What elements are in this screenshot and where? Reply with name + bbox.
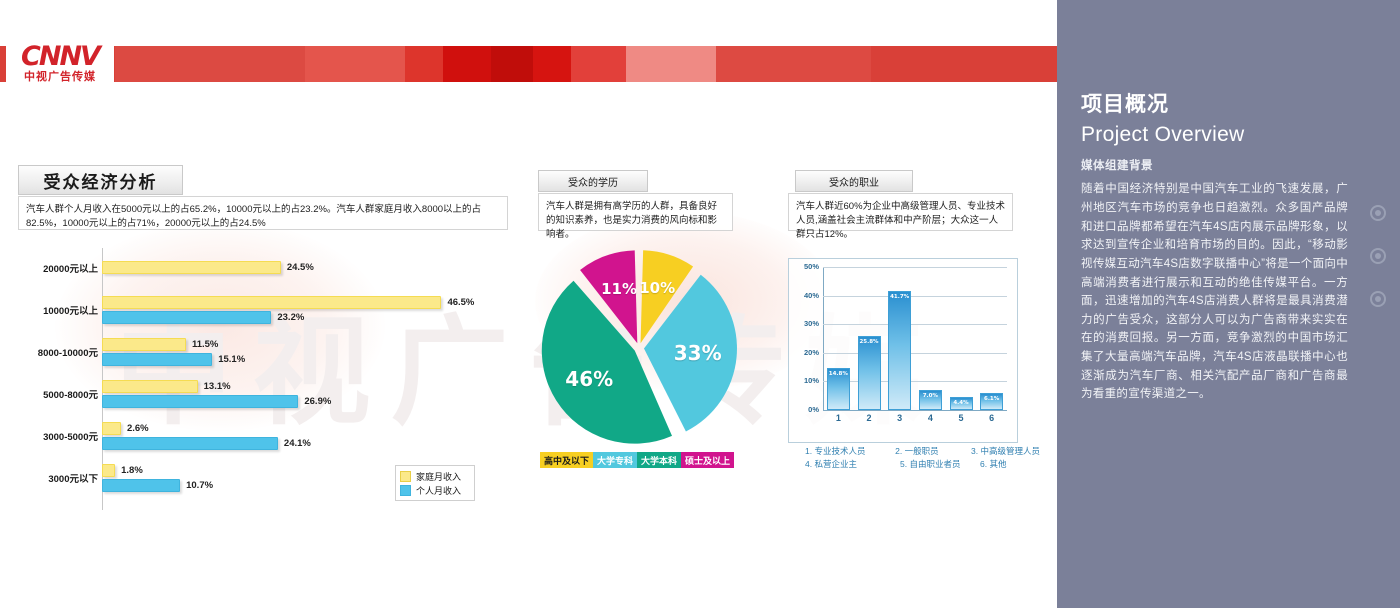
bar-personal-income (102, 479, 180, 492)
category-legend-item: 3. 中高级管理人员 (971, 445, 1040, 458)
legend-item: 个人月收入 (400, 483, 470, 497)
pie-slice-label: 33% (672, 341, 724, 365)
section-title-education: 受众的学历 (538, 170, 648, 192)
pie-legend-item: 高中及以下 (540, 452, 593, 468)
x-axis-tick: 3 (888, 413, 911, 423)
bar-household-income (102, 380, 198, 393)
gridline (823, 267, 1007, 268)
bar-value-label: 2.6% (127, 422, 149, 435)
column-value-label: 6.1% (981, 396, 1002, 402)
legend-swatch (400, 471, 411, 482)
pie-legend-item: 大学本科 (637, 452, 681, 468)
category-legend-item: 4. 私营企业主 (805, 458, 900, 471)
gridline (823, 324, 1007, 325)
column-value-label: 14.8% (828, 371, 849, 377)
occupation-category-legend: 1. 专业技术人员2. 一般职员3. 中高级管理人员4. 私营企业主5. 自由职… (805, 445, 1040, 471)
category-legend-item: 2. 一般职员 (895, 445, 971, 458)
y-axis-tick: 10% (791, 376, 819, 385)
bar-personal-income (102, 437, 278, 450)
column-value-label: 4.4% (951, 400, 972, 406)
sidebar-title-english: Project Overview (1081, 122, 1348, 147)
x-axis-tick: 6 (980, 413, 1003, 423)
banner-segment (115, 46, 305, 82)
bar-value-label: 15.1% (218, 353, 245, 366)
banner-segment (405, 46, 443, 82)
bar-category-label: 5000-8000元 (14, 374, 98, 414)
column-bar: 41.7% (888, 291, 911, 410)
banner-segment (716, 46, 871, 82)
column-value-label: 25.8% (859, 339, 880, 345)
column-bar: 7.0% (919, 390, 942, 410)
bar-personal-income (102, 353, 212, 366)
target-circle-icon-1 (1370, 205, 1386, 221)
column-y-axis (823, 267, 824, 411)
bar-value-label: 23.2% (277, 311, 304, 324)
bar-value-label: 10.7% (186, 479, 213, 492)
education-pie-chart: 10%33%46%11% (527, 248, 757, 448)
banner-segment (533, 46, 571, 82)
y-axis-tick: 0% (791, 405, 819, 414)
bar-category-label: 10000元以上 (14, 290, 98, 330)
y-axis-tick: 50% (791, 262, 819, 271)
x-axis-tick: 2 (858, 413, 881, 423)
bar-value-label: 13.1% (204, 380, 231, 393)
bar-household-income (102, 338, 186, 351)
section-description-economics: 汽车人群个人月收入在5000元以上的占65.2%，10000元以上的占23.2%… (18, 196, 508, 230)
bar-personal-income (102, 395, 298, 408)
bar-household-income (102, 464, 115, 477)
legend-item: 家庭月收入 (400, 469, 470, 483)
target-circle-icon-2 (1370, 248, 1386, 264)
banner-segment (491, 46, 533, 82)
header-banner (0, 46, 1057, 82)
gridline (823, 381, 1007, 382)
bar-chart-row: 8000-10000元11.5%15.1% (14, 332, 514, 372)
section-description-education: 汽车人群是拥有高学历的人群，具备良好的知识素养，也是实力消费的风向标和影响者。 (538, 193, 733, 231)
column-bar: 25.8% (858, 336, 881, 410)
gridline (823, 353, 1007, 354)
section-description-occupation: 汽车人群近60%为企业中高级管理人员、专业技术人员,涵盖社会主流群体和中产阶层；… (788, 193, 1013, 231)
bar-value-label: 24.1% (284, 437, 311, 450)
bar-chart-row: 20000元以上24.5% (14, 248, 514, 288)
education-pie-legend: 高中及以下大学专科大学本科硕士及以上 (540, 452, 755, 468)
category-legend-item: 1. 专业技术人员 (805, 445, 895, 458)
bar-personal-income (102, 311, 271, 324)
logo-chinese-name: 中视广告传媒 (24, 71, 96, 84)
slide-canvas: 中视广告传媒 CNNV 中视广告传媒 受众经济分析 汽车人群个人月收入在5000… (0, 0, 1057, 608)
bar-household-income (102, 296, 441, 309)
logo-wordmark: CNNV (21, 43, 99, 70)
bar-value-label: 11.5% (192, 338, 218, 351)
pie-slice-label: 11% (593, 280, 645, 298)
bar-category-label: 3000元以下 (14, 458, 98, 498)
category-legend-row: 1. 专业技术人员2. 一般职员3. 中高级管理人员 (805, 445, 1040, 458)
y-axis-tick: 30% (791, 319, 819, 328)
bar-household-income (102, 422, 121, 435)
column-bar: 14.8% (827, 368, 850, 410)
bar-category-label: 3000-5000元 (14, 416, 98, 456)
banner-segment (626, 46, 716, 82)
y-axis-tick: 40% (791, 291, 819, 300)
income-chart-legend: 家庭月收入个人月收入 (395, 465, 475, 501)
column-value-label: 41.7% (889, 294, 910, 300)
bar-value-label: 26.9% (304, 395, 331, 408)
sidebar-body-text: 随着中国经济特别是中国汽车工业的飞速发展，广州地区汽车市场的竞争也日趋激烈。众多… (1081, 180, 1348, 404)
column-plot-area: 0%10%20%30%40%50%14.8%125.8%241.7%37.0%4… (823, 267, 1007, 410)
gridline (823, 296, 1007, 297)
banner-segment (571, 46, 626, 82)
column-x-axis (823, 410, 1007, 411)
column-bar: 6.1% (980, 393, 1003, 410)
brand-logo: CNNV 中视广告传媒 (6, 40, 114, 87)
column-bar: 4.4% (950, 397, 973, 410)
section-title-economics: 受众经济分析 (18, 165, 183, 195)
occupation-column-chart: 0%10%20%30%40%50%14.8%125.8%241.7%37.0%4… (788, 258, 1018, 443)
bar-value-label: 24.5% (287, 261, 314, 274)
legend-label: 家庭月收入 (416, 470, 461, 483)
bar-chart-row: 5000-8000元13.1%26.9% (14, 374, 514, 414)
project-overview-sidebar: 项目概况 Project Overview 媒体组建背景 随着中国经济特别是中国… (1057, 0, 1400, 608)
bar-value-label: 46.5% (447, 296, 474, 309)
sidebar-title-chinese: 项目概况 (1081, 92, 1348, 118)
legend-label: 个人月收入 (416, 484, 461, 497)
target-circle-icon-3 (1370, 291, 1386, 307)
category-legend-item: 5. 自由职业者员 (900, 458, 980, 471)
x-axis-tick: 1 (827, 413, 850, 423)
pie-legend-item: 大学专科 (593, 452, 637, 468)
pie-legend-item: 硕士及以上 (681, 452, 734, 468)
pie-slice-label: 46% (563, 367, 615, 391)
bar-category-label: 20000元以上 (14, 248, 98, 288)
bar-chart-row: 3000-5000元2.6%24.1% (14, 416, 514, 456)
sidebar-subtitle: 媒体组建背景 (1081, 157, 1348, 173)
column-value-label: 7.0% (920, 393, 941, 399)
legend-swatch (400, 485, 411, 496)
category-legend-row: 4. 私营企业主5. 自由职业者员6. 其他 (805, 458, 1040, 471)
y-axis-tick: 20% (791, 348, 819, 357)
bar-category-label: 8000-10000元 (14, 332, 98, 372)
bar-household-income (102, 261, 281, 274)
banner-segment (443, 46, 491, 82)
x-axis-tick: 5 (950, 413, 973, 423)
banner-segment (305, 46, 405, 82)
bar-chart-row: 10000元以上46.5%23.2% (14, 290, 514, 330)
section-title-occupation: 受众的职业 (795, 170, 913, 192)
banner-segment (871, 46, 1057, 82)
bar-value-label: 1.8% (121, 464, 143, 477)
x-axis-tick: 4 (919, 413, 942, 423)
category-legend-item: 6. 其他 (980, 458, 1006, 471)
